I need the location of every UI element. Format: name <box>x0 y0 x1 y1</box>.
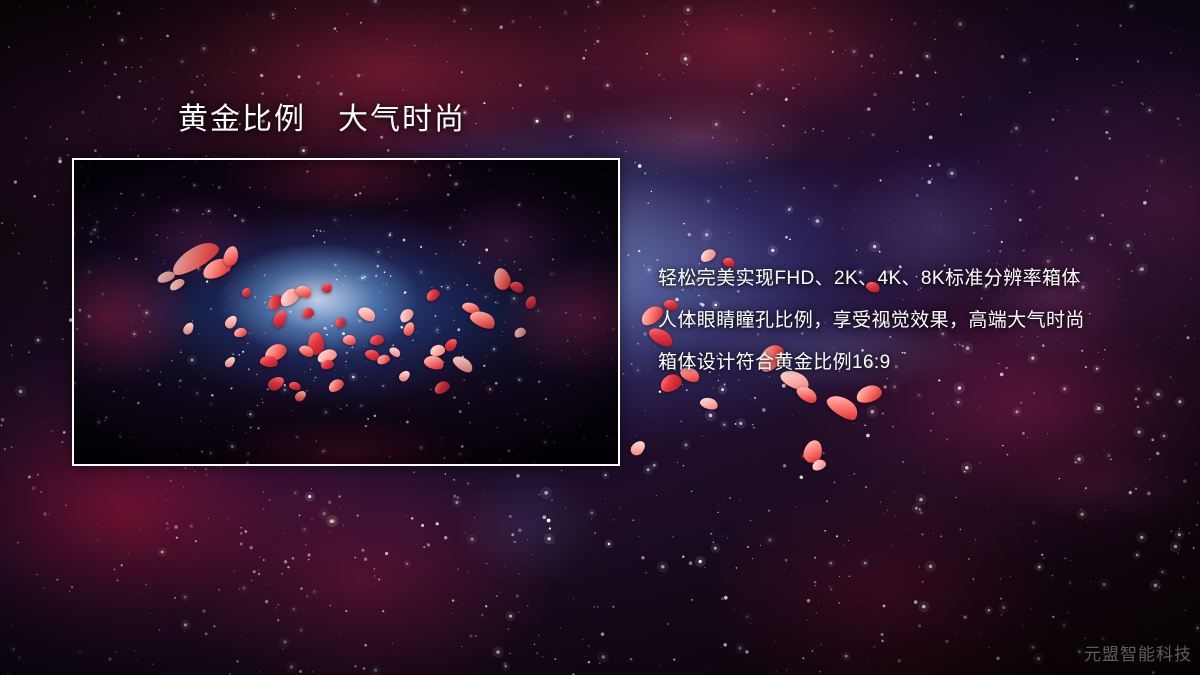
screen-starfield <box>74 160 618 464</box>
petal <box>265 292 286 312</box>
petal <box>320 359 334 370</box>
petal <box>301 307 315 319</box>
petal <box>222 245 240 267</box>
petal <box>429 344 446 358</box>
petal <box>422 353 445 372</box>
body-text-block: 轻松完美实现FHD、2K、4K、8K标准分辨率箱体 人体眼睛瞳孔比例，享受视觉效… <box>658 258 1178 384</box>
petal <box>524 295 537 310</box>
petal <box>461 300 481 316</box>
petal <box>824 390 862 425</box>
petal <box>266 374 287 394</box>
presentation-slide: 黄金比例 大气时尚 轻松完美实现FHD、2K、4K、8K标准分辨率箱体 人体眼睛… <box>0 0 1200 675</box>
body-text-line: 人体眼睛瞳孔比例，享受视觉效果，高端大气时尚 <box>658 300 1178 342</box>
petal <box>370 334 385 345</box>
petal <box>342 333 357 346</box>
petal <box>156 269 176 284</box>
petal <box>298 343 316 359</box>
petal <box>316 347 339 365</box>
petal <box>376 353 391 365</box>
petal <box>293 389 308 404</box>
petal <box>397 369 412 384</box>
petal <box>424 287 441 303</box>
petal <box>388 345 402 359</box>
display-screen-content <box>74 160 618 464</box>
watermark-label: 元盟智能科技 <box>1084 640 1192 665</box>
petal <box>402 321 416 337</box>
petal <box>432 379 451 396</box>
petal <box>508 279 525 295</box>
petal <box>326 377 345 394</box>
petal <box>334 316 347 328</box>
petal <box>277 285 303 309</box>
petal <box>811 458 828 472</box>
petal <box>271 308 288 329</box>
petal <box>181 321 195 337</box>
body-text-line: 轻松完美实现FHD、2K、4K、8K标准分辨率箱体 <box>658 258 1178 300</box>
petal <box>491 266 513 292</box>
slide-title: 黄金比例 大气时尚 <box>178 100 466 140</box>
petal <box>262 341 289 364</box>
petal <box>628 438 647 458</box>
petal <box>321 282 334 295</box>
petal <box>259 355 279 369</box>
body-text-line: 箱体设计符合黄金比例16:9 <box>658 342 1178 384</box>
petal <box>443 336 459 353</box>
petal <box>223 355 237 369</box>
petal <box>513 326 528 339</box>
petal <box>854 383 883 406</box>
petal <box>794 383 820 406</box>
petal <box>200 255 234 282</box>
petal <box>307 331 325 355</box>
petal <box>233 327 247 338</box>
display-panel-frame <box>72 158 620 466</box>
petal <box>241 287 251 297</box>
petal <box>288 380 302 392</box>
petal <box>802 438 824 464</box>
petal <box>397 306 416 324</box>
petal <box>699 395 720 411</box>
petal <box>223 313 239 330</box>
petal <box>168 277 186 293</box>
petal <box>451 353 476 376</box>
petal <box>294 283 313 300</box>
petal <box>364 347 382 362</box>
petal <box>356 304 378 324</box>
petal <box>468 307 498 332</box>
petal <box>167 237 222 279</box>
